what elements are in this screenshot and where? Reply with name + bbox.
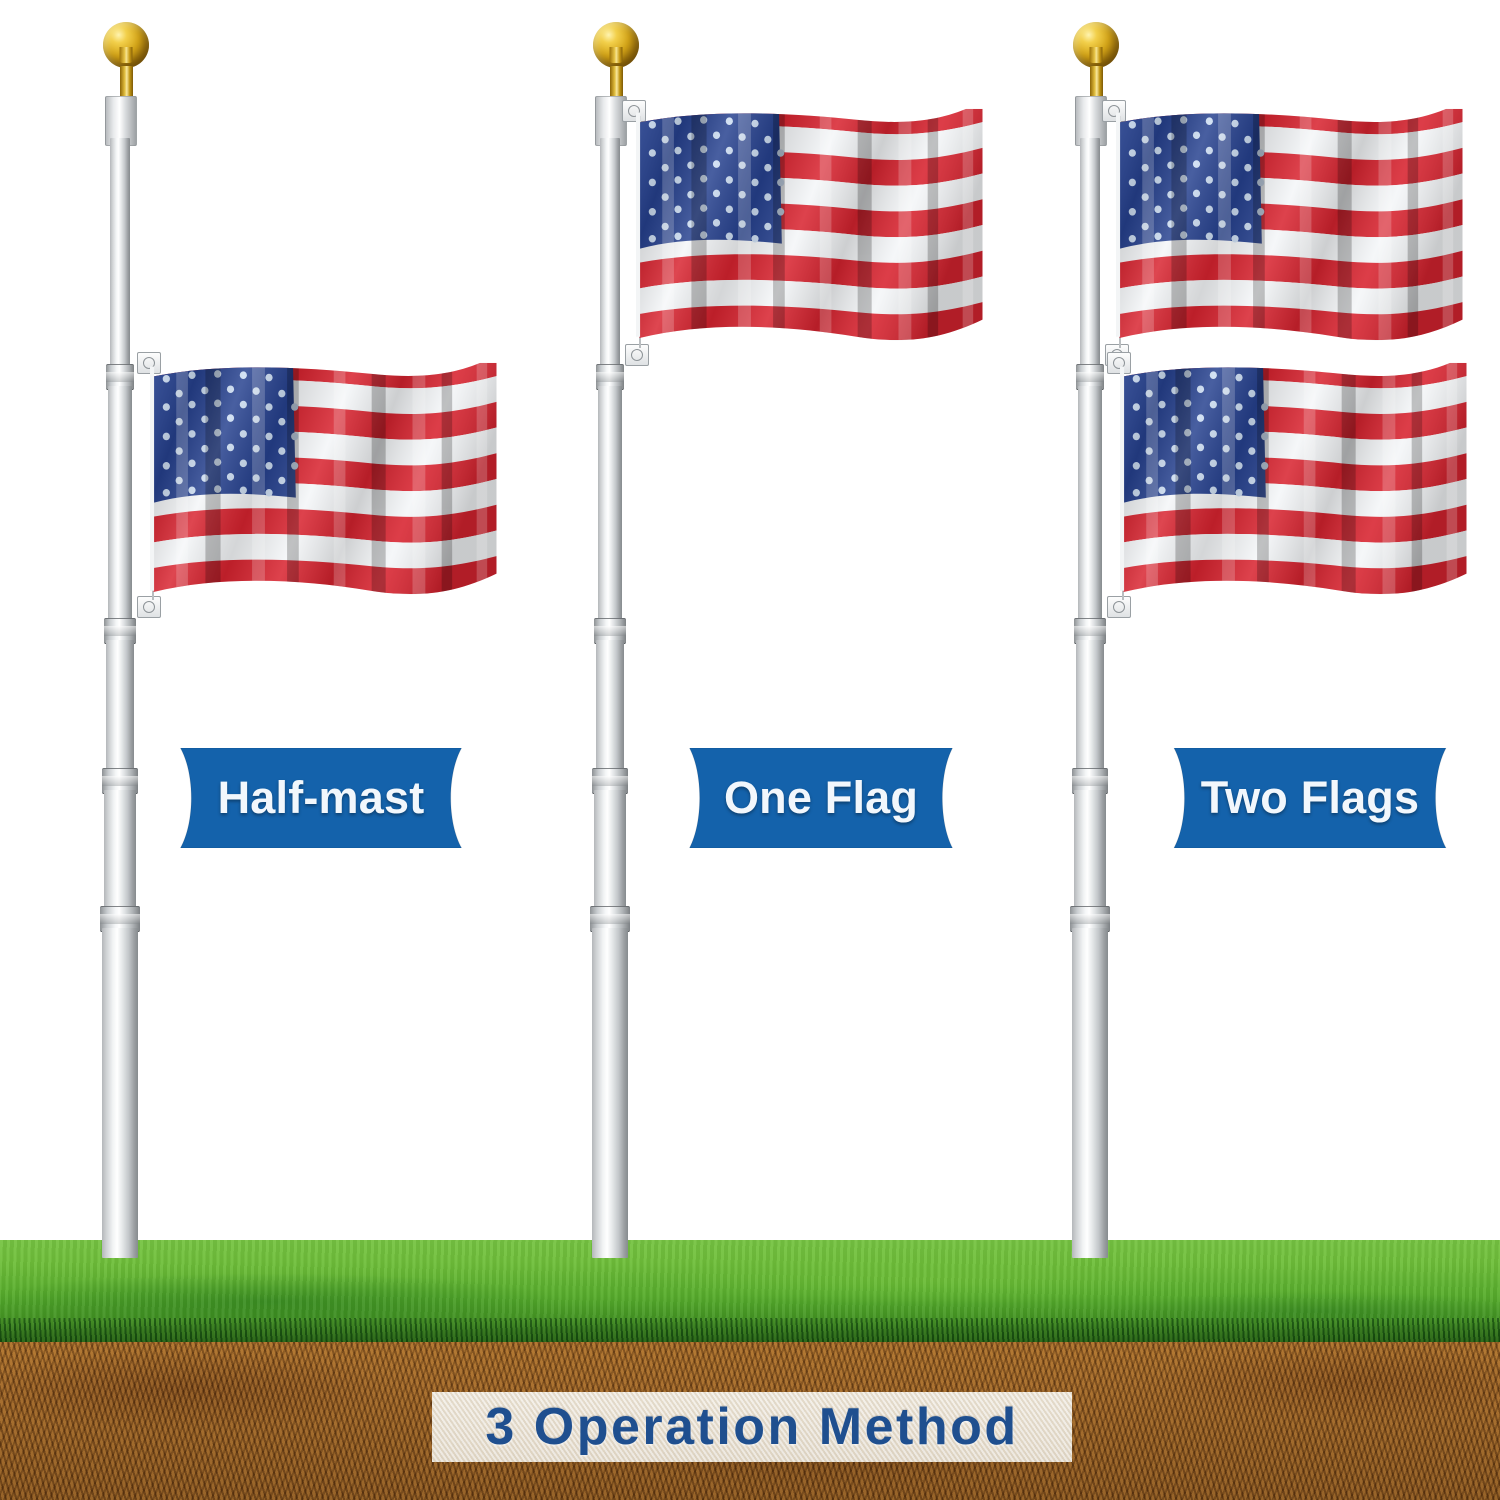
pole-section-1 — [1080, 138, 1100, 368]
pole-section-5 — [102, 928, 138, 1258]
us-flag-lower — [1120, 358, 1470, 603]
us-flag-upper — [1116, 104, 1466, 349]
flagpole-half-mast: Half-mast — [0, 0, 500, 1300]
finial-neck — [120, 66, 133, 100]
pole-section-4 — [594, 790, 626, 908]
banner-label-one-flag: One Flag — [724, 772, 918, 824]
pole-section-3 — [1076, 640, 1104, 770]
pole-section-4 — [104, 790, 136, 908]
infographic-canvas: Half-mast One Flag — [0, 0, 1500, 1500]
finial-neck — [1090, 66, 1103, 100]
gold-ball-finial — [593, 22, 639, 68]
banner-one-flag: One Flag — [676, 748, 966, 848]
gold-ball-finial — [1073, 22, 1119, 68]
pole-section-3 — [596, 640, 624, 770]
banner-label-two-flags: Two Flags — [1201, 772, 1419, 824]
pole-section-2 — [108, 386, 132, 622]
banner-two-flags: Two Flags — [1160, 748, 1460, 848]
pole-section-2 — [1078, 386, 1102, 622]
gold-ball-finial — [103, 22, 149, 68]
flagpole-one-flag: One Flag — [490, 0, 1010, 1300]
us-flag-top — [636, 104, 986, 349]
pole-section-5 — [1072, 928, 1108, 1258]
caption-text: 3 Operation Method — [485, 1397, 1018, 1457]
pole-section-2 — [598, 386, 622, 622]
pole-section-5 — [592, 928, 628, 1258]
finial-neck — [610, 66, 623, 100]
flagpole-two-flags: Two Flags — [970, 0, 1500, 1300]
banner-half-mast: Half-mast — [166, 748, 476, 848]
pole-section-4 — [1074, 790, 1106, 908]
banner-label-half-mast: Half-mast — [218, 772, 425, 824]
pole-section-1 — [110, 138, 130, 368]
us-flag-half-mast — [150, 358, 500, 603]
pole-section-1 — [600, 138, 620, 368]
pole-section-3 — [106, 640, 134, 770]
caption-band: 3 Operation Method — [432, 1392, 1072, 1462]
